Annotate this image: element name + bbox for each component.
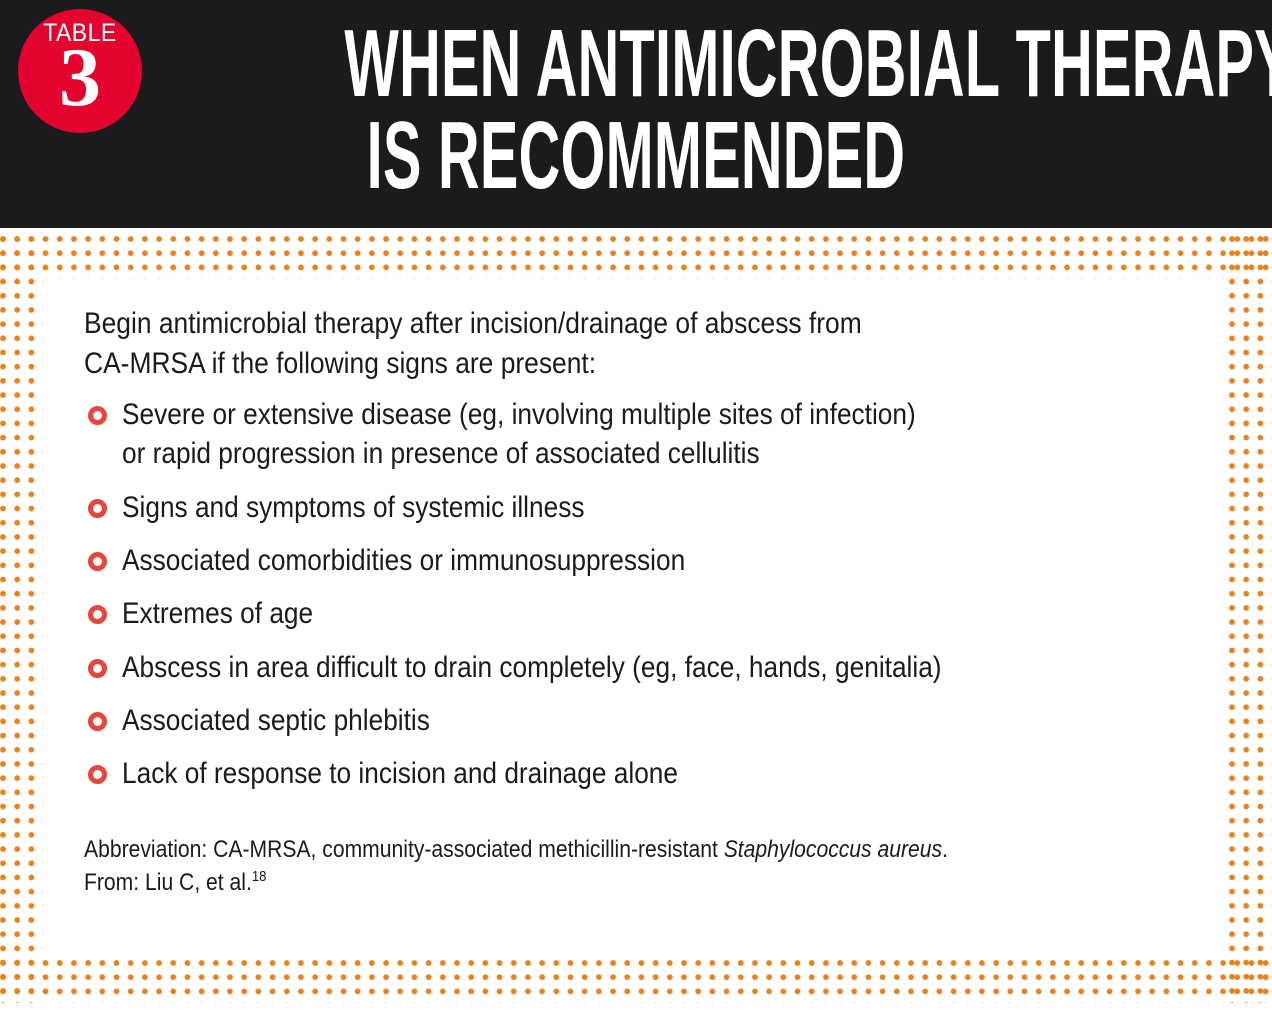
- table-content: Begin antimicrobial therapy after incisi…: [50, 286, 1222, 953]
- footnote-line-2: From: Liu C, et al.18: [84, 866, 948, 899]
- ring-bullet-icon: [88, 659, 107, 678]
- list-item-line: Severe or extensive disease (eg, involvi…: [122, 395, 1055, 434]
- ring-bullet-icon: [88, 605, 107, 624]
- footnote-abbrev-prefix: Abbreviation: CA-MRSA, community-associa…: [84, 836, 724, 863]
- badge-table-label: TABLE: [43, 21, 116, 46]
- dotted-border-right: [1229, 236, 1272, 1003]
- intro-paragraph: Begin antimicrobial therapy after incisi…: [84, 304, 1094, 383]
- intro-line-1: Begin antimicrobial therapy after incisi…: [84, 304, 973, 344]
- list-item-text: Associated septic phlebitis: [122, 701, 1188, 740]
- list-item: Lack of response to incision and drainag…: [84, 754, 1188, 793]
- list-item-line: Extremes of age: [122, 594, 1055, 633]
- list-item: Abscess in area difficult to drain compl…: [84, 648, 1188, 687]
- badge-table-number: 3: [59, 44, 101, 113]
- ring-bullet-icon: [88, 499, 107, 518]
- table-figure: TABLE 3 WHEN ANTIMICROBIAL THERAPY IS RE…: [0, 0, 1272, 1011]
- ring-bullet-icon: [88, 552, 107, 571]
- ring-bullet-icon: [88, 712, 107, 731]
- page-title-line-2: IS RECOMMENDED: [344, 110, 927, 202]
- footnote-reference-superscript: 18: [252, 869, 267, 885]
- list-item-line: Signs and symptoms of systemic illness: [122, 488, 1055, 527]
- list-item-text: Lack of response to incision and drainag…: [122, 754, 1188, 793]
- list-item: Severe or extensive disease (eg, involvi…: [84, 395, 1188, 474]
- table-number-badge: TABLE 3: [18, 9, 142, 133]
- footnote-species-italic: Staphylococcus aureus: [724, 836, 942, 863]
- list-item-text: Severe or extensive disease (eg, involvi…: [122, 395, 1188, 474]
- dotted-border-top: [0, 236, 1272, 279]
- list-item: Extremes of age: [84, 594, 1188, 633]
- page-title-line-1: WHEN ANTIMICROBIAL THERAPY: [344, 18, 927, 110]
- ring-bullet-icon: [88, 765, 107, 784]
- list-item: Signs and symptoms of systemic illness: [84, 488, 1188, 527]
- list-item-line: Associated comorbidities or immunosuppre…: [122, 541, 1055, 580]
- page-title: WHEN ANTIMICROBIAL THERAPY IS RECOMMENDE…: [150, 18, 1122, 202]
- dotted-border-bottom: [0, 960, 1272, 1003]
- intro-line-2: CA-MRSA if the following signs are prese…: [84, 344, 973, 384]
- footnote-line-1: Abbreviation: CA-MRSA, community-associa…: [84, 833, 948, 866]
- list-item: Associated comorbidities or immunosuppre…: [84, 541, 1188, 580]
- list-item-line: Lack of response to incision and drainag…: [122, 754, 1055, 793]
- dotted-border-left: [0, 236, 43, 1003]
- list-item: Associated septic phlebitis: [84, 701, 1188, 740]
- footnote: Abbreviation: CA-MRSA, community-associa…: [84, 833, 1066, 899]
- list-item-text: Abscess in area difficult to drain compl…: [122, 648, 1188, 687]
- list-item-text: Extremes of age: [122, 594, 1188, 633]
- list-item-line: or rapid progression in presence of asso…: [122, 434, 1055, 473]
- list-item-text: Signs and symptoms of systemic illness: [122, 488, 1188, 527]
- footnote-source-text: From: Liu C, et al.: [84, 869, 252, 896]
- list-item-line: Abscess in area difficult to drain compl…: [122, 648, 1055, 687]
- footnote-abbrev-suffix: .: [942, 836, 948, 863]
- dotted-frame: Begin antimicrobial therapy after incisi…: [0, 228, 1272, 1011]
- table-header-band: TABLE 3 WHEN ANTIMICROBIAL THERAPY IS RE…: [0, 0, 1272, 228]
- list-item-text: Associated comorbidities or immunosuppre…: [122, 541, 1188, 580]
- list-item-line: Associated septic phlebitis: [122, 701, 1055, 740]
- ring-bullet-icon: [88, 406, 107, 425]
- criteria-list: Severe or extensive disease (eg, involvi…: [84, 395, 1188, 793]
